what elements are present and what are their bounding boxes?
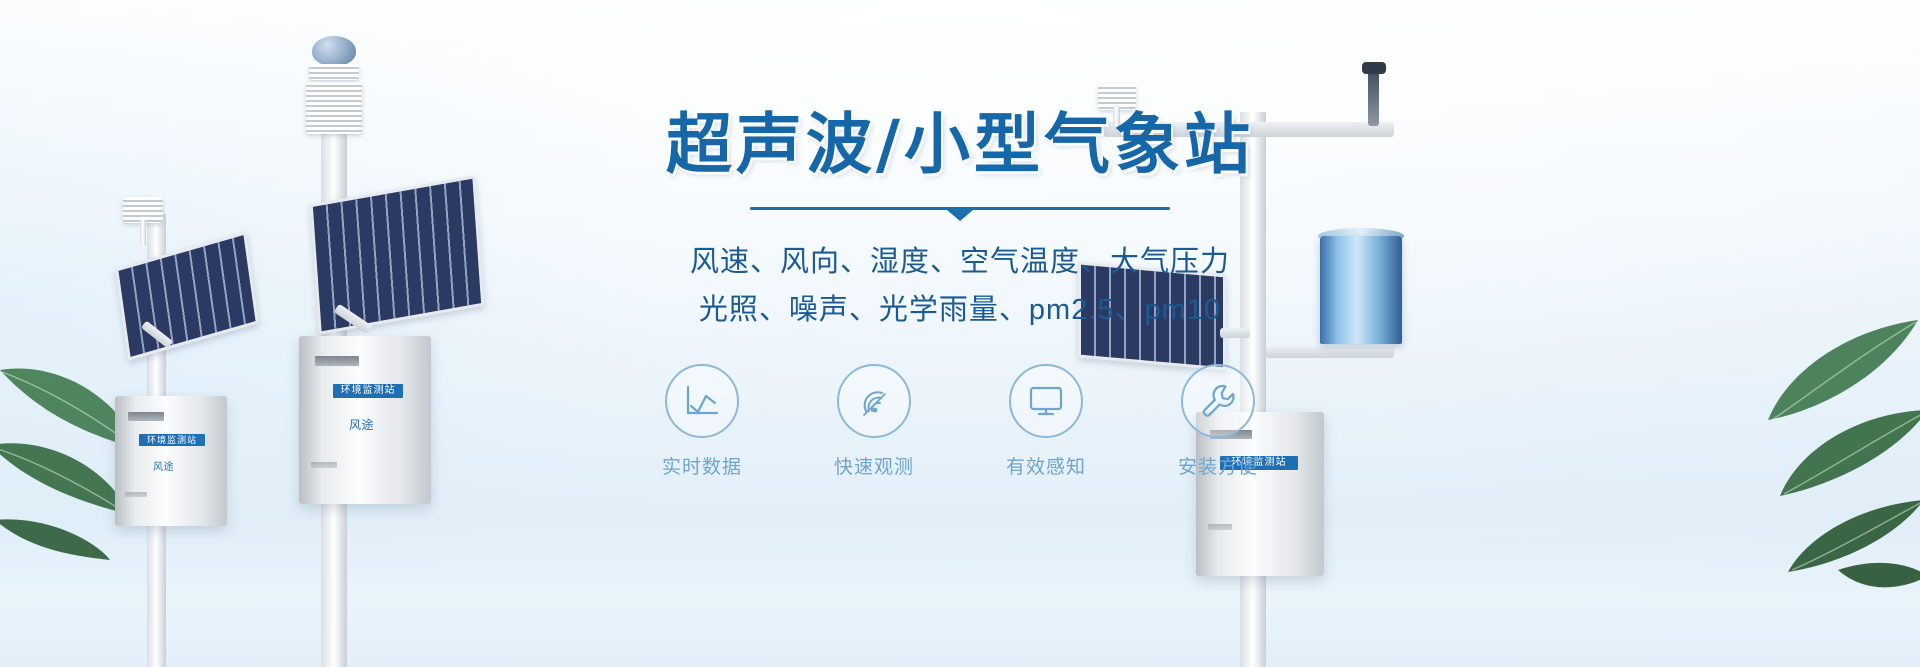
cabinet-vent-left bbox=[128, 412, 164, 421]
brand-text-left: 风途 bbox=[153, 458, 174, 473]
title-divider bbox=[750, 204, 1170, 220]
cabinet-label-middle: 环境监测站 bbox=[333, 384, 403, 398]
leaf-decoration-right bbox=[1688, 300, 1920, 600]
divider-triangle-icon bbox=[947, 210, 973, 221]
feature-circle-1 bbox=[665, 364, 739, 438]
feature-circle-2 bbox=[837, 364, 911, 438]
feature-label-4: 安装方便 bbox=[1163, 452, 1273, 479]
monitor-screen-icon bbox=[1026, 383, 1066, 419]
weather-station-middle: 环境监测站 风途 bbox=[285, 28, 535, 667]
louvered-shield-middle bbox=[306, 82, 362, 134]
feature-item-easy-installation[interactable]: 安装方便 bbox=[1163, 364, 1273, 479]
radiation-shield-middle bbox=[309, 64, 359, 80]
feature-label-2: 快速观测 bbox=[819, 452, 929, 479]
cabinet-latch-middle bbox=[311, 462, 337, 468]
banner-text-block: 超声波/小型气象站 风速、风向、湿度、空气温度、大气压力 光照、噪声、光学雨量、… bbox=[580, 112, 1340, 479]
wind-vane-head bbox=[1362, 62, 1386, 74]
feature-circle-4 bbox=[1181, 364, 1255, 438]
feature-label-3: 有效感知 bbox=[991, 452, 1101, 479]
feature-item-fast-observation[interactable]: 快速观测 bbox=[819, 364, 929, 479]
feature-circle-3 bbox=[1009, 364, 1083, 438]
control-cabinet-left: 环境监测站 风途 bbox=[115, 396, 227, 526]
feature-item-effective-sensing[interactable]: 有效感知 bbox=[991, 364, 1101, 479]
weather-station-left: 环境监测站 风途 bbox=[95, 190, 305, 667]
page-title: 超声波/小型气象站 bbox=[580, 112, 1340, 178]
cabinet-latch-left bbox=[125, 492, 147, 497]
ultrasonic-sensor-dome bbox=[312, 36, 356, 66]
brand-text-middle: 风途 bbox=[349, 416, 374, 433]
line-chart-icon bbox=[682, 382, 722, 420]
cabinet-vent-middle bbox=[315, 356, 359, 366]
cabinet-latch-right bbox=[1208, 524, 1232, 530]
feature-list: 实时数据 快速观测 bbox=[580, 364, 1340, 479]
feature-label-1: 实时数据 bbox=[647, 452, 757, 479]
cabinet-label-left: 环境监测站 bbox=[139, 434, 205, 446]
wind-vane-right bbox=[1368, 68, 1379, 126]
sensor-stem-left bbox=[140, 220, 146, 246]
subtitle-line-1: 风速、风向、湿度、空气温度、大气压力 bbox=[580, 240, 1340, 284]
signal-wave-icon bbox=[854, 381, 894, 421]
subtitle-line-2: 光照、噪声、光学雨量、pm2.5、pm10 bbox=[580, 288, 1340, 332]
control-cabinet-middle: 环境监测站 风途 bbox=[299, 336, 431, 504]
product-banner: 环境监测站 风途 环境监测站 风途 bbox=[0, 0, 1920, 667]
feature-item-realtime-data[interactable]: 实时数据 bbox=[647, 364, 757, 479]
wrench-icon bbox=[1198, 381, 1238, 421]
solar-panel-left bbox=[115, 231, 259, 360]
